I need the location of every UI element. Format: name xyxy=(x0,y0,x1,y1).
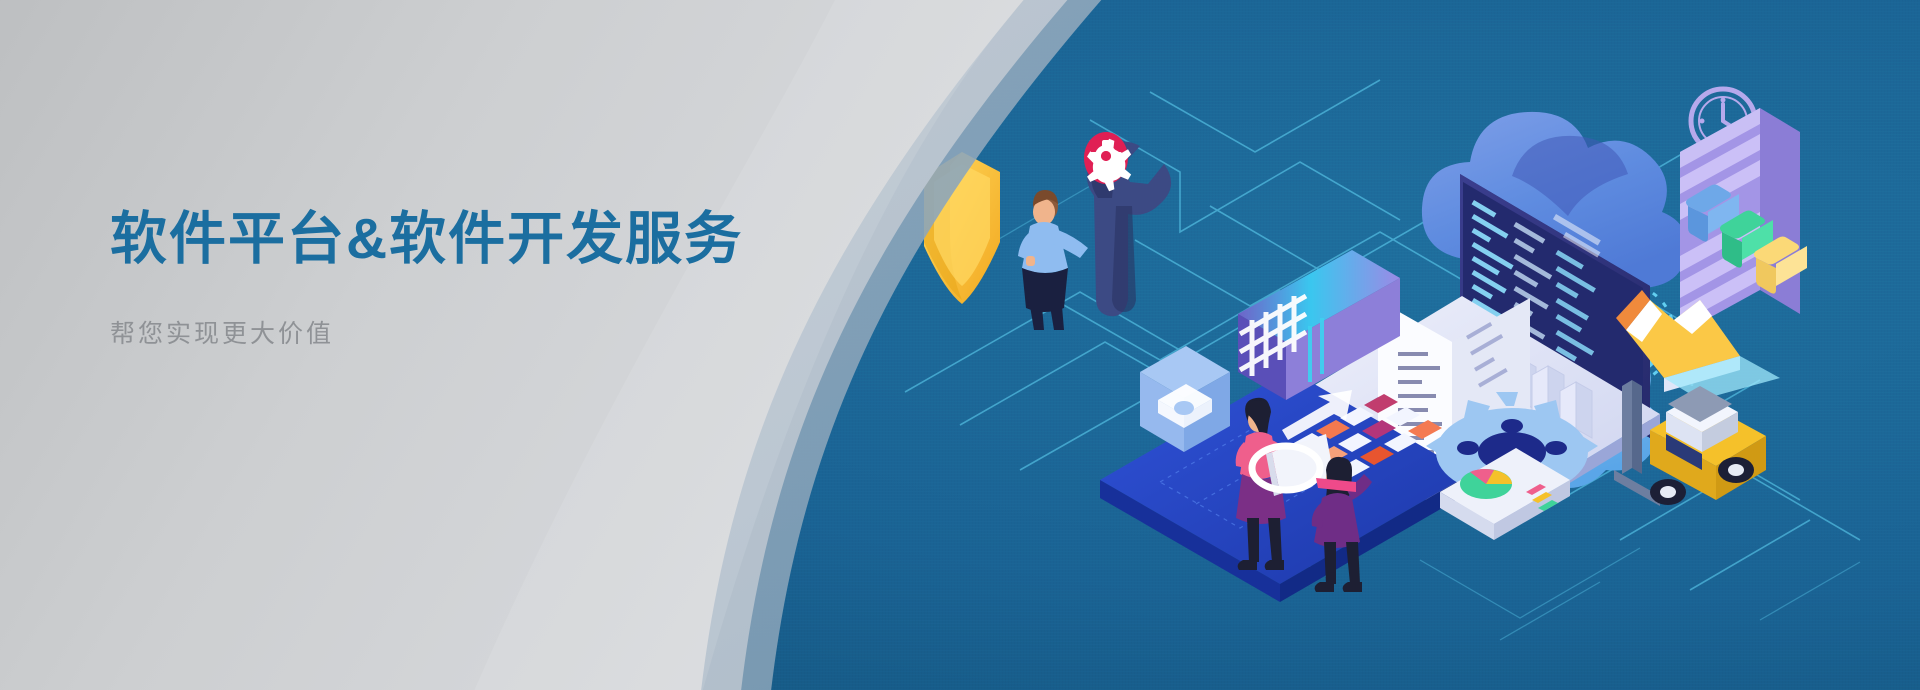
dashboard-panel xyxy=(1680,108,1807,334)
page-subtitle: 帮您实现更大价值 xyxy=(110,318,930,351)
hero-banner: 软件平台&软件开发服务 帮您实现更大价值 xyxy=(0,0,1920,690)
page-title: 软件平台&软件开发服务 xyxy=(110,208,930,272)
developer-person xyxy=(1018,190,1088,330)
copy-block: 软件平台&软件开发服务 帮您实现更大价值 xyxy=(110,208,930,350)
forklift-icon xyxy=(1614,380,1766,506)
